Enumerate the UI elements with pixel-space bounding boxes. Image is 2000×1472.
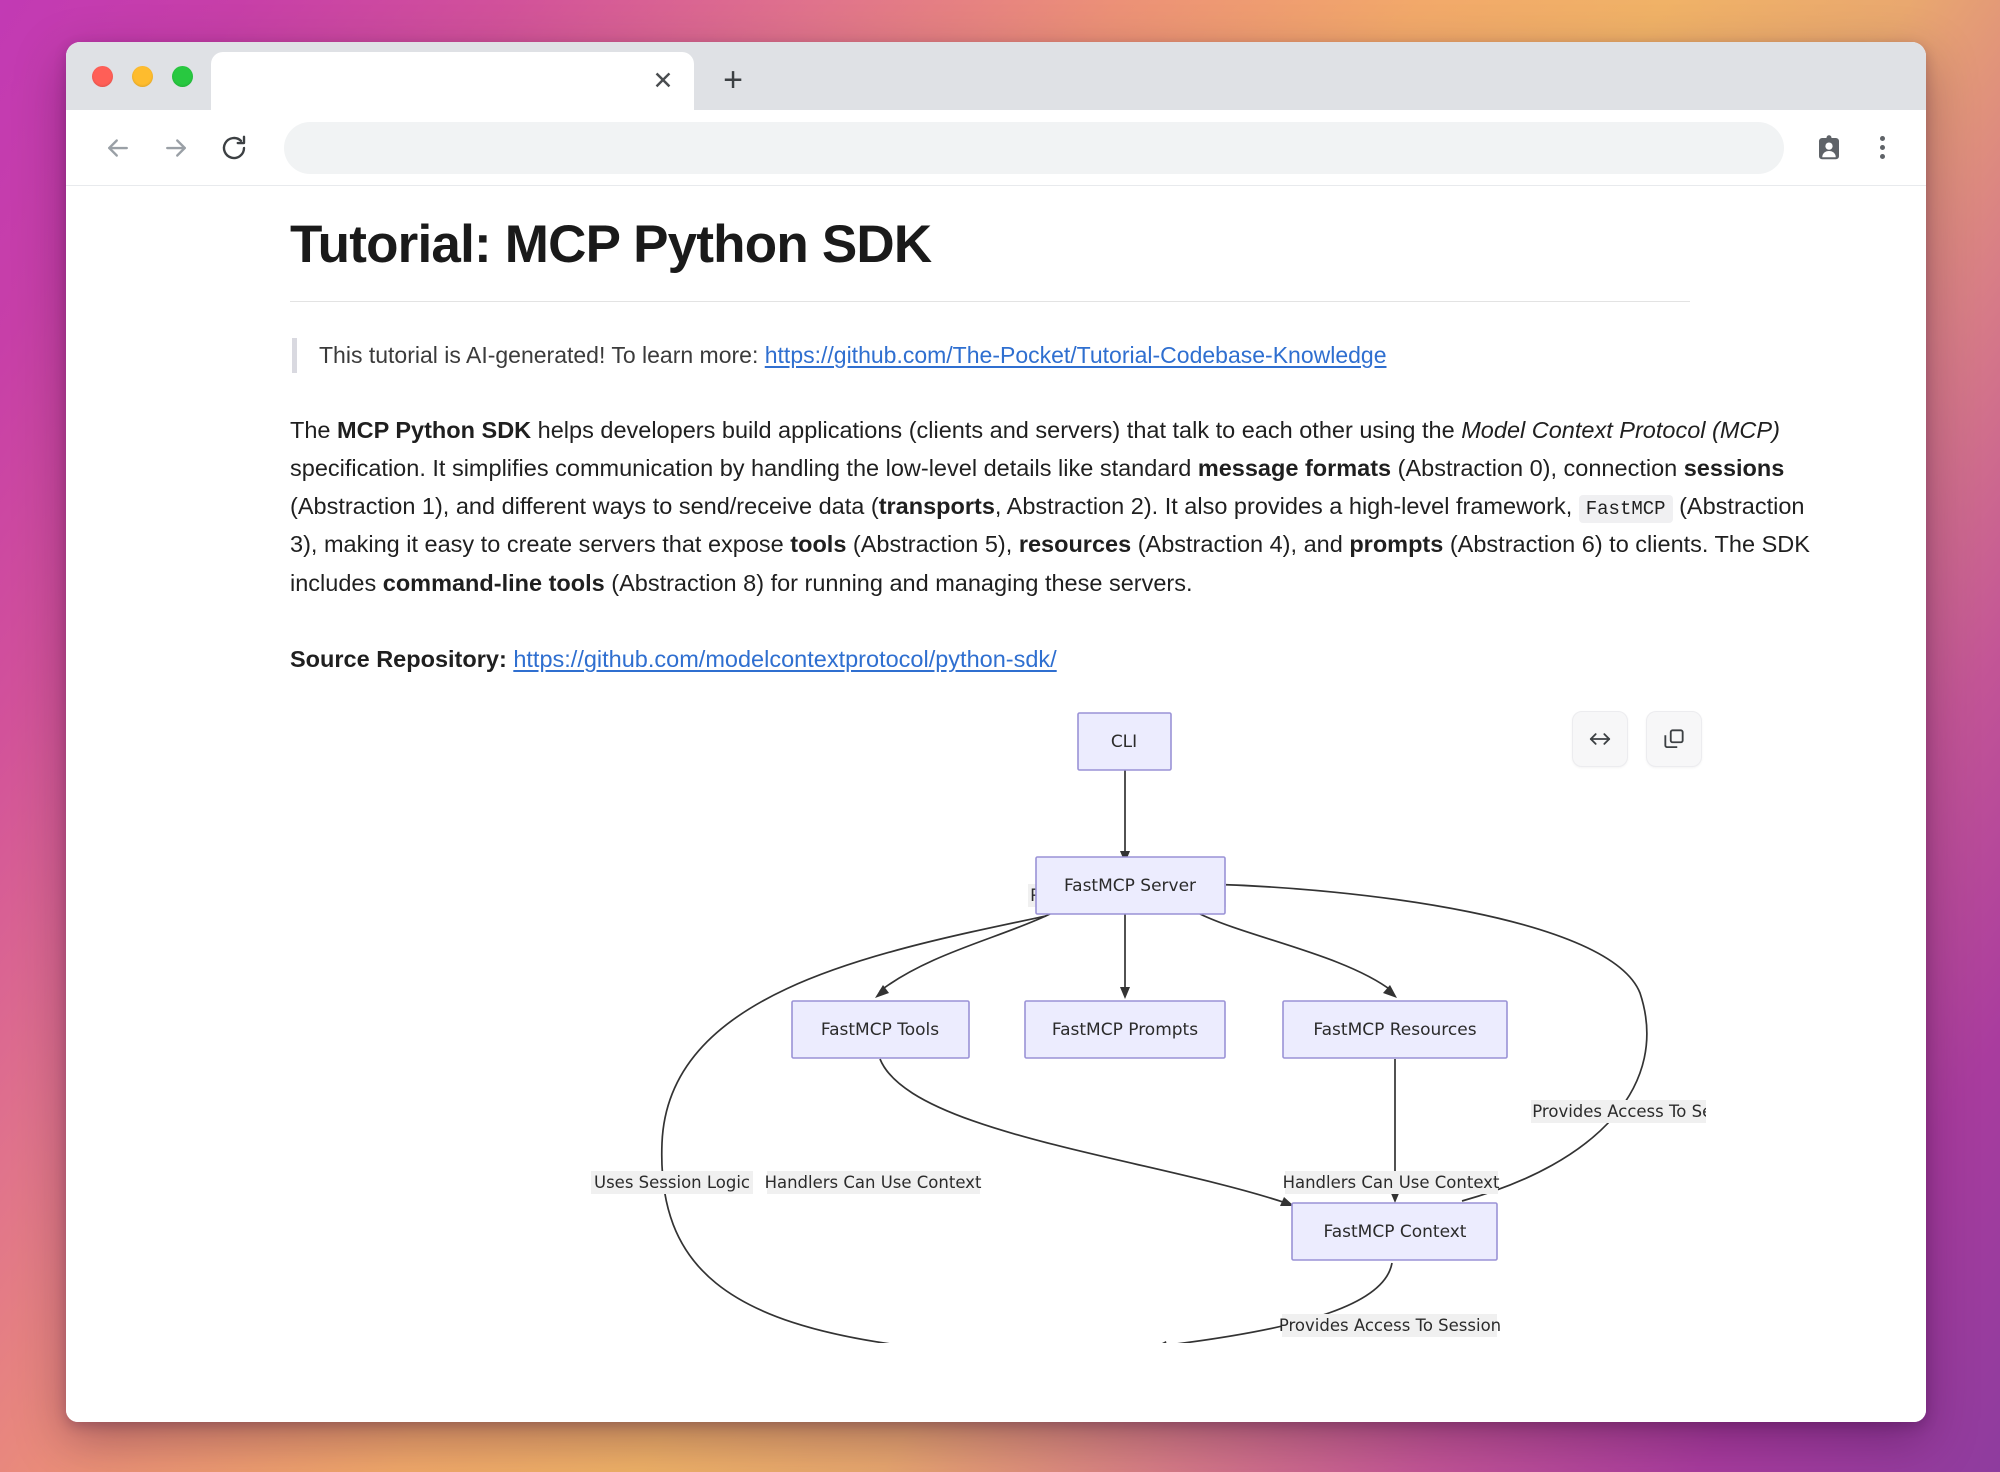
edge-server-sessions xyxy=(662,916,1046,1343)
intro-s5: (Abstraction 1), and different ways to s… xyxy=(290,493,879,519)
node-fastmcp-tools[interactable]: FastMCP Tools xyxy=(792,1001,969,1058)
edge-server-tools xyxy=(880,914,1050,991)
intro-b3: sessions xyxy=(1684,455,1785,481)
address-bar[interactable] xyxy=(284,122,1784,174)
back-button[interactable] xyxy=(92,122,144,174)
intro-b1: MCP Python SDK xyxy=(337,417,531,443)
node-fastmcp-tools-label: FastMCP Tools xyxy=(821,1020,939,1040)
diagram-toolbar xyxy=(1572,711,1702,767)
node-fastmcp-prompts-label: FastMCP Prompts xyxy=(1052,1020,1198,1040)
fastmcp-code: FastMCP xyxy=(1579,495,1673,523)
ai-generated-note: This tutorial is AI-generated! To learn … xyxy=(292,338,1826,373)
intro-s2: helps developers build applications (cli… xyxy=(531,417,1461,443)
intro-b8: command-line tools xyxy=(383,570,605,596)
diagram-canvas[interactable]: Runs/Configures Server Manages Tools Man… xyxy=(170,703,1706,1343)
back-arrow-icon xyxy=(103,133,133,163)
close-window-button[interactable] xyxy=(92,66,113,87)
intro-s1: The xyxy=(290,417,337,443)
edge-server-resources xyxy=(1200,914,1392,991)
node-cli[interactable]: CLI xyxy=(1078,713,1171,770)
edge-label-provides-access-to-server: Provides Access To Server xyxy=(1532,1102,1706,1121)
kebab-dot-2 xyxy=(1880,145,1885,150)
browser-window: ✕ + xyxy=(66,42,1926,1422)
new-tab-button[interactable]: + xyxy=(710,57,756,103)
page-viewport[interactable]: Tutorial: MCP Python SDK This tutorial i… xyxy=(66,186,1926,1422)
mermaid-diagram-block: Runs/Configures Server Manages Tools Man… xyxy=(290,703,1826,1343)
tutorial-knowledge-link[interactable]: https://github.com/The-Pocket/Tutorial-C… xyxy=(765,342,1387,368)
node-fastmcp-resources[interactable]: FastMCP Resources xyxy=(1283,1001,1507,1058)
article-content: Tutorial: MCP Python SDK This tutorial i… xyxy=(66,214,1926,1343)
intro-paragraph: The MCP Python SDK helps developers buil… xyxy=(290,411,1826,602)
node-fastmcp-server[interactable]: FastMCP Server xyxy=(1036,857,1225,914)
forward-button[interactable] xyxy=(150,122,202,174)
flowchart-svg: Runs/Configures Server Manages Tools Man… xyxy=(170,703,1706,1343)
minimize-window-button[interactable] xyxy=(132,66,153,87)
arrowhead-server-prompts xyxy=(1120,987,1130,999)
forward-arrow-icon xyxy=(161,133,191,163)
note-text: This tutorial is AI-generated! To learn … xyxy=(319,342,765,368)
edge-label-handlers-can-use-context-tools: Handlers Can Use Context xyxy=(765,1173,982,1192)
intro-b2: message formats xyxy=(1198,455,1391,481)
browser-menu-button[interactable] xyxy=(1860,123,1904,173)
kebab-dot-1 xyxy=(1880,136,1885,141)
arrowhead-context-sessions xyxy=(1152,1341,1168,1343)
intro-s4: (Abstraction 0), connection xyxy=(1391,455,1684,481)
close-tab-icon[interactable]: ✕ xyxy=(646,64,680,98)
intro-s6: , Abstraction 2). It also provides a hig… xyxy=(995,493,1579,519)
fit-width-button[interactable] xyxy=(1572,711,1628,767)
intro-s11: (Abstraction 8) for running and managing… xyxy=(605,570,1193,596)
edge-label-uses-session-logic: Uses Session Logic xyxy=(594,1173,750,1192)
intro-b4: transports xyxy=(879,493,995,519)
intro-s9: (Abstraction 4), and xyxy=(1131,531,1349,557)
source-repository-link[interactable]: https://github.com/modelcontextprotocol/… xyxy=(513,646,1056,672)
reload-icon xyxy=(219,133,249,163)
source-repository-label: Source Repository: xyxy=(290,646,507,672)
edge-label-provides-access-to-session: Provides Access To Session xyxy=(1279,1316,1501,1335)
node-cli-label: CLI xyxy=(1111,732,1137,752)
window-controls xyxy=(84,42,203,110)
node-fastmcp-prompts[interactable]: FastMCP Prompts xyxy=(1025,1001,1225,1058)
intro-i1: Model Context Protocol (MCP) xyxy=(1461,417,1780,443)
profile-button[interactable] xyxy=(1804,123,1854,173)
node-fastmcp-context-label: FastMCP Context xyxy=(1324,1222,1467,1242)
intro-s8: (Abstraction 5), xyxy=(846,531,1018,557)
source-repository: Source Repository: https://github.com/mo… xyxy=(290,646,1826,673)
horizontal-resize-icon xyxy=(1587,726,1613,752)
node-fastmcp-context[interactable]: FastMCP Context xyxy=(1292,1203,1497,1260)
kebab-dot-3 xyxy=(1880,154,1885,159)
reload-button[interactable] xyxy=(208,122,260,174)
edge-label-handlers-can-use-context-resources: Handlers Can Use Context xyxy=(1283,1173,1500,1192)
page-title: Tutorial: MCP Python SDK xyxy=(290,214,1690,302)
intro-b7: prompts xyxy=(1349,531,1443,557)
intro-s3: specification. It simplifies communicati… xyxy=(290,455,1198,481)
copy-icon xyxy=(1661,726,1687,752)
node-fastmcp-resources-label: FastMCP Resources xyxy=(1313,1020,1476,1040)
intro-b5: tools xyxy=(790,531,846,557)
browser-toolbar xyxy=(66,110,1926,186)
browser-tab[interactable]: ✕ xyxy=(211,52,694,110)
tab-strip: ✕ + xyxy=(66,42,1926,110)
profile-card-icon xyxy=(1814,133,1844,163)
maximize-window-button[interactable] xyxy=(172,66,193,87)
intro-b6: resources xyxy=(1019,531,1131,557)
node-fastmcp-server-label: FastMCP Server xyxy=(1064,876,1196,896)
copy-button[interactable] xyxy=(1646,711,1702,767)
